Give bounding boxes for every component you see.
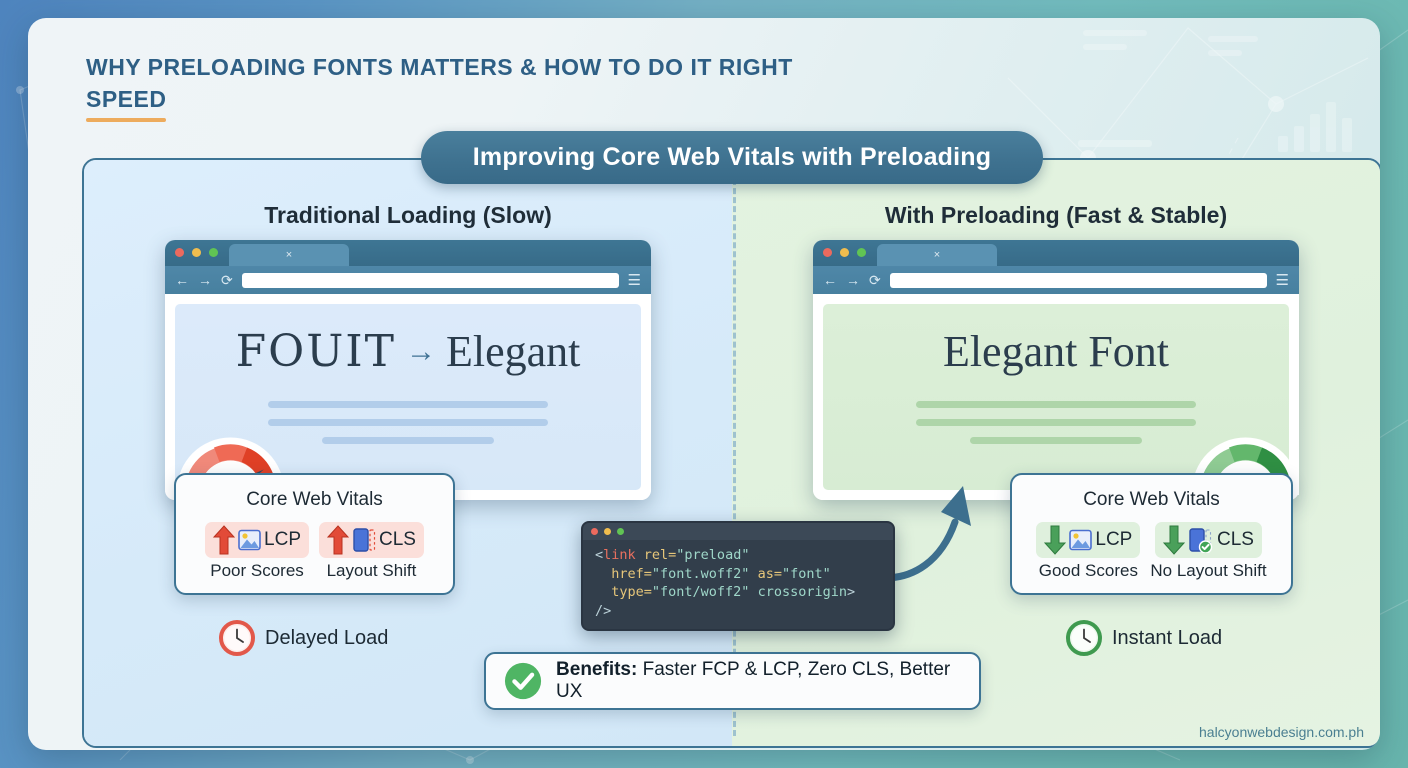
maximize-dot-icon[interactable] [617, 528, 624, 535]
code-l3-close: > [847, 584, 855, 600]
forward-arrow-icon[interactable]: → [198, 273, 212, 287]
right-browser-tab[interactable]: × [877, 244, 997, 266]
code-l3-val: "font/woff2" [652, 584, 750, 600]
minimize-dot-icon[interactable] [192, 248, 201, 257]
tab-close-icon[interactable]: × [286, 249, 292, 261]
metric-cls: CLS Layout Shift [319, 522, 424, 581]
close-dot-icon[interactable] [591, 528, 598, 535]
right-headline: Elegant Font [943, 326, 1169, 377]
banner-pill: Improving Core Web Vitals with Preloadin… [421, 131, 1043, 184]
mobile-check-icon [1188, 527, 1214, 553]
left-browser-titlebar: × [165, 240, 651, 266]
maximize-dot-icon[interactable] [857, 248, 866, 257]
elegant-text: Elegant [446, 326, 580, 377]
hamburger-menu-icon[interactable]: ☰ [1276, 273, 1289, 288]
left-cwv-metrics: LCP Poor Scores CLS Layout Shift [192, 522, 437, 581]
lcp-caption: Poor Scores [210, 561, 304, 581]
code-l1-tag: link [603, 547, 636, 563]
maximize-dot-icon[interactable] [209, 248, 218, 257]
infographic-card: WHY PRELOADING FONTS MATTERS & HOW TO DO… [28, 18, 1380, 750]
tab-close-icon[interactable]: × [934, 249, 940, 261]
back-arrow-icon[interactable]: ← [175, 273, 189, 287]
code-l4: /> [595, 603, 611, 619]
watermark: halcyonwebdesign.com.ph [1199, 724, 1364, 740]
code-l1-attr: rel= [636, 547, 677, 563]
left-browser-tab[interactable]: × [229, 244, 349, 266]
lcp-caption: Good Scores [1039, 561, 1138, 581]
page-title-keyword: SPEED [86, 84, 166, 116]
benefits-bar: Benefits: Faster FCP & LCP, Zero CLS, Be… [484, 652, 981, 710]
right-core-web-vitals-card: Core Web Vitals LCP Good Scores [1010, 473, 1293, 595]
code-window-controls[interactable] [583, 523, 893, 540]
right-cwv-title: Core Web Vitals [1028, 489, 1275, 511]
check-circle-icon [504, 661, 542, 701]
image-icon [1069, 529, 1092, 551]
code-l1-open: < [595, 547, 603, 563]
fouit-text: FOUIT [236, 326, 396, 377]
left-url-input[interactable] [242, 273, 619, 288]
left-column-title: Traditional Loading (Slow) [84, 202, 732, 229]
metric-lcp: LCP Good Scores [1036, 522, 1140, 581]
left-cwv-title: Core Web Vitals [192, 489, 437, 511]
instant-load-status: Instant Load [1066, 620, 1222, 656]
left-window-controls[interactable] [175, 248, 218, 257]
transition-arrow-icon: → [406, 335, 436, 369]
code-l2-attr2: as= [749, 566, 782, 582]
image-icon [238, 529, 261, 551]
right-column-title: With Preloading (Fast & Stable) [732, 202, 1380, 229]
cls-label: CLS [1217, 529, 1254, 551]
right-browser-titlebar: × [813, 240, 1299, 266]
metric-lcp: LCP Poor Scores [205, 522, 309, 581]
hamburger-menu-icon[interactable]: ☰ [628, 273, 641, 288]
page-title-line1: WHY PRELOADING FONTS MATTERS & HOW TO DO… [86, 54, 793, 80]
left-browser-toolbar: ← → ⟳ ☰ [165, 266, 651, 294]
benefits-label: Benefits: [556, 659, 637, 680]
lcp-label: LCP [264, 529, 301, 551]
cls-caption: Layout Shift [327, 561, 417, 581]
forward-arrow-icon[interactable]: → [846, 273, 860, 287]
cls-label: CLS [379, 529, 416, 551]
clock-icon [219, 620, 255, 656]
delayed-load-status: Delayed Load [219, 620, 388, 656]
cls-chip: CLS [319, 522, 424, 558]
close-dot-icon[interactable] [175, 248, 184, 257]
metric-cls: CLS No Layout Shift [1150, 522, 1266, 581]
header: WHY PRELOADING FONTS MATTERS & HOW TO DO… [86, 52, 793, 115]
right-url-input[interactable] [890, 273, 1267, 288]
code-l2-val: "font.woff2" [652, 566, 750, 582]
code-l1-val: "preload" [676, 547, 749, 563]
clock-icon [1066, 620, 1102, 656]
right-window-controls[interactable] [823, 248, 866, 257]
page-title: WHY PRELOADING FONTS MATTERS & HOW TO DO… [86, 52, 793, 115]
delayed-load-label: Delayed Load [265, 627, 388, 650]
close-dot-icon[interactable] [823, 248, 832, 257]
benefits-text: Benefits: Faster FCP & LCP, Zero CLS, Be… [556, 659, 961, 703]
mobile-icon [352, 527, 376, 553]
code-l2-attr: href= [611, 566, 652, 582]
instant-load-label: Instant Load [1112, 627, 1222, 650]
code-l3-attr: type= [611, 584, 652, 600]
code-l3-attr2: crossorigin [749, 584, 847, 600]
arrow-down-green-icon [1163, 525, 1185, 555]
banner-title: Improving Core Web Vitals with Preloadin… [473, 143, 991, 172]
reload-icon[interactable]: ⟳ [221, 273, 233, 287]
cls-caption: No Layout Shift [1150, 561, 1266, 581]
left-core-web-vitals-card: Core Web Vitals LCP Poor Scores [174, 473, 455, 595]
reload-icon[interactable]: ⟳ [869, 273, 881, 287]
left-headline: FOUIT → Elegant [236, 326, 581, 377]
lcp-chip: LCP [1036, 522, 1140, 558]
code-l2-val2: "font" [782, 566, 831, 582]
right-cwv-metrics: LCP Good Scores CLS No [1028, 522, 1275, 581]
arrow-up-red-icon [327, 525, 349, 555]
connector-arrow-icon [883, 478, 993, 593]
minimize-dot-icon[interactable] [840, 248, 849, 257]
arrow-up-red-icon [213, 525, 235, 555]
right-browser-toolbar: ← → ⟳ ☰ [813, 266, 1299, 294]
back-arrow-icon[interactable]: ← [823, 273, 837, 287]
lcp-label: LCP [1095, 529, 1132, 551]
code-block: <link rel="preload" href="font.woff2" as… [583, 540, 893, 621]
preload-code-snippet: <link rel="preload" href="font.woff2" as… [581, 521, 895, 631]
arrow-down-green-icon [1044, 525, 1066, 555]
cls-chip: CLS [1155, 522, 1262, 558]
minimize-dot-icon[interactable] [604, 528, 611, 535]
lcp-chip: LCP [205, 522, 309, 558]
